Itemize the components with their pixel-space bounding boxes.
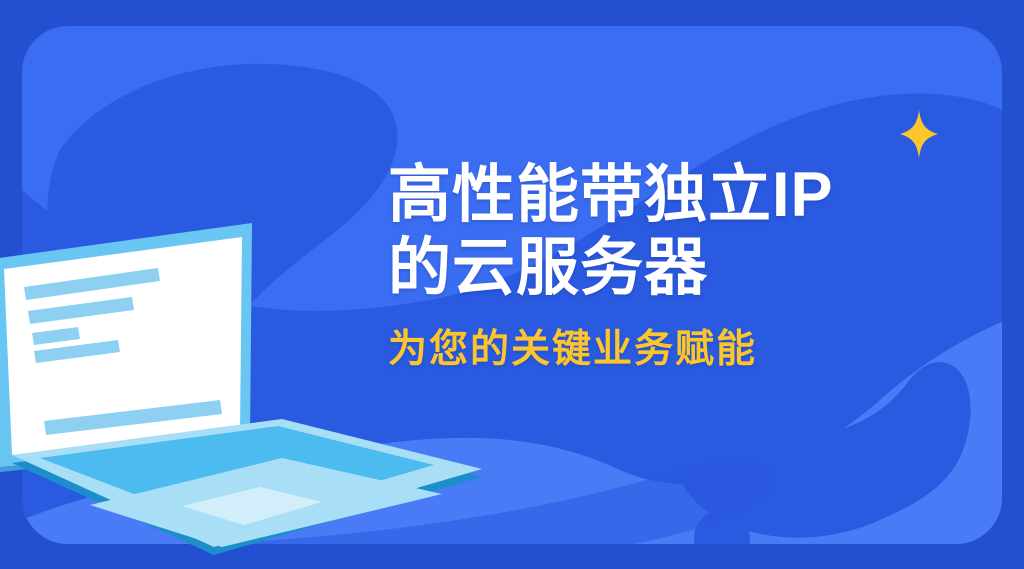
sparkle-icon bbox=[898, 108, 940, 160]
headline-line-1: 高性能带独立IP bbox=[388, 160, 988, 231]
headline-line-2: 的云服务器 bbox=[388, 233, 988, 304]
subheadline: 为您的关键业务赋能 bbox=[388, 329, 988, 372]
promo-banner: 高性能带独立IP 的云服务器 为您的关键业务赋能 bbox=[0, 0, 1024, 569]
headline-block: 高性能带独立IP 的云服务器 为您的关键业务赋能 bbox=[388, 160, 988, 372]
